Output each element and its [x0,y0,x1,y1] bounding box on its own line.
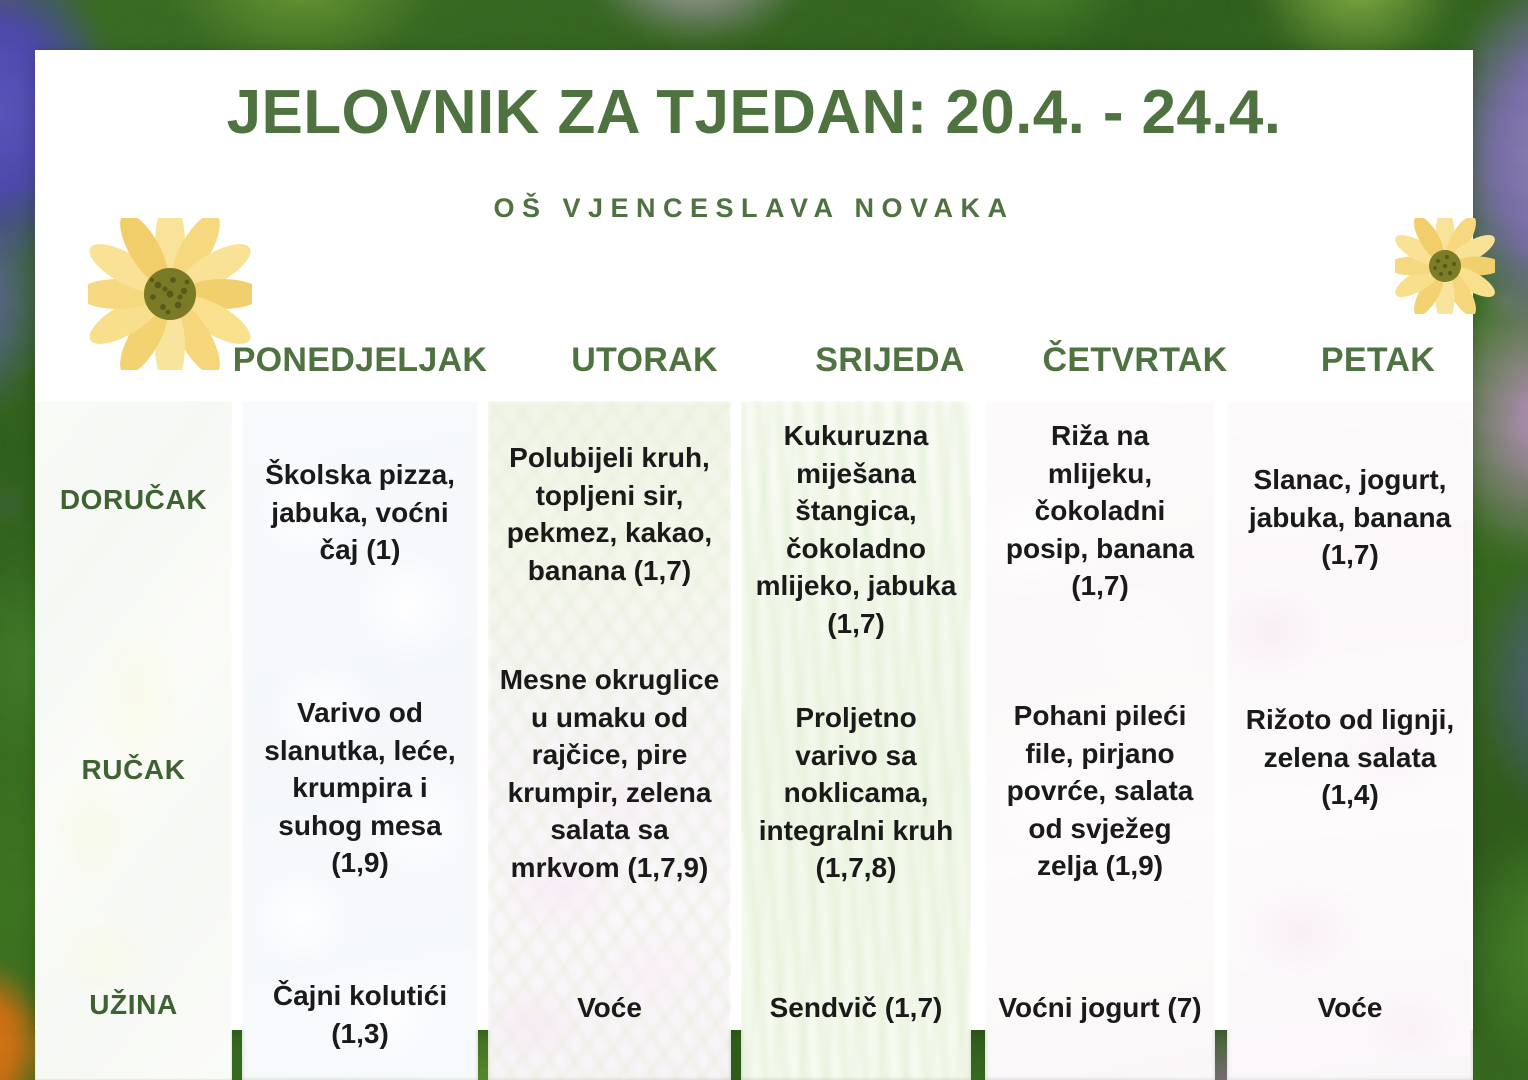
cell-utorak-uzina: Voće [488,989,731,1027]
column-content: Slanac, jogurt, jabuka, banana (1,7) Riž… [1227,401,1473,1080]
cell-ponedjeljak-rucak: Varivo od slanutka, leće, krumpira i suh… [242,694,478,882]
daisy-flower-icon-left [88,218,252,370]
cell-ponedjeljak-dorucak: Školska pizza, jabuka, voćni čaj (1) [242,456,478,569]
cell-srijeda-dorucak: Kukuruzna miješana štangica, čokoladno m… [741,417,971,642]
cell-petak-uzina: Voće [1227,989,1473,1027]
row-label-uzina: UŽINA [35,989,232,1021]
cell-utorak-dorucak: Polubijeli kruh, topljeni sir, pekmez, k… [488,439,731,589]
day-header-srijeda: SRIJEDA [775,338,1005,382]
row-label-rucak: RUČAK [35,754,232,786]
page-title: JELOVNIK ZA TJEDAN: 20.4. - 24.4. [35,77,1473,148]
day-header-petak: PETAK [1263,338,1493,382]
column-content: Riža na mlijeku, čokoladni posip, banana… [985,401,1215,1080]
cell-utorak-rucak: Mesne okruglice u umaku od rajčice, pire… [488,661,731,886]
menu-card: JELOVNIK ZA TJEDAN: 20.4. - 24.4. OŠ VJE… [35,50,1473,1030]
cell-petak-dorucak: Slanac, jogurt, jabuka, banana (1,7) [1227,461,1473,574]
daisy-flower-icon-right [1395,218,1495,314]
day-header-utorak: UTORAK [523,338,766,382]
cell-ponedjeljak-uzina: Čajni kolutići (1,3) [242,977,478,1052]
day-header-cetvrtak: ČETVRTAK [1020,338,1250,382]
cell-cetvrtak-uzina: Voćni jogurt (7) [985,989,1215,1027]
day-column-cetvrtak: Riža na mlijeku, čokoladni posip, banana… [985,401,1215,1080]
column-content: DORUČAK RUČAK UŽINA [35,401,232,1080]
day-column-petak: Slanac, jogurt, jabuka, banana (1,7) Riž… [1227,401,1473,1080]
day-header-ponedjeljak: PONEDJELJAK [242,338,478,382]
column-content: Školska pizza, jabuka, voćni čaj (1) Var… [242,401,478,1080]
day-column-utorak: Polubijeli kruh, topljeni sir, pekmez, k… [488,401,731,1080]
cell-srijeda-uzina: Sendvič (1,7) [741,989,971,1027]
day-column-srijeda: Kukuruzna miješana štangica, čokoladno m… [741,401,971,1080]
cell-cetvrtak-rucak: Pohani pileći file, pirjano povrće, sala… [985,697,1215,885]
day-column-ponedjeljak: Školska pizza, jabuka, voćni čaj (1) Var… [242,401,478,1080]
row-label-dorucak: DORUČAK [35,484,232,516]
column-content: Kukuruzna miješana štangica, čokoladno m… [741,401,971,1080]
cell-petak-rucak: Rižoto od lignji, zelena salata (1,4) [1227,701,1473,814]
cell-cetvrtak-dorucak: Riža na mlijeku, čokoladni posip, banana… [985,417,1215,605]
cell-srijeda-rucak: Proljetno varivo sa noklicama, integraln… [741,699,971,887]
meal-label-column: DORUČAK RUČAK UŽINA [35,401,232,1080]
column-content: Polubijeli kruh, topljeni sir, pekmez, k… [488,401,731,1080]
